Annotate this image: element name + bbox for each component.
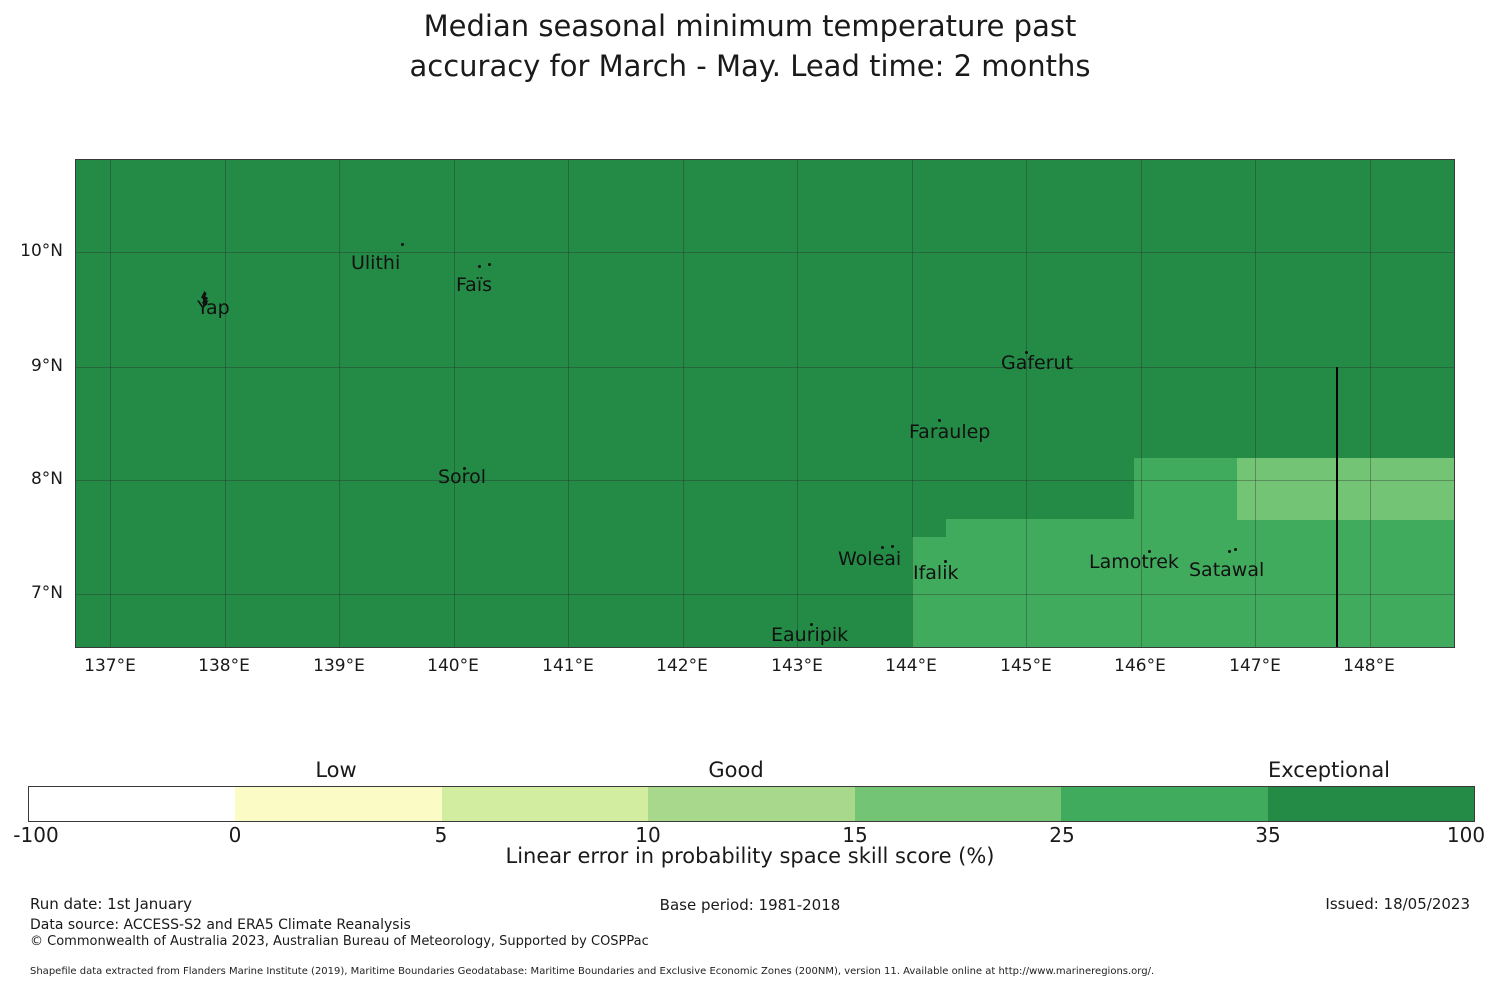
heatmap-cell-25-35-strip — [946, 519, 1455, 538]
colorbar-segment-25-35 — [1061, 787, 1267, 821]
gridline-longitude-148 — [1370, 160, 1371, 647]
gridline-longitude-137 — [110, 160, 111, 647]
gridline-longitude-146 — [1141, 160, 1142, 647]
colorbar-axis-label: Linear error in probability space skill … — [0, 844, 1500, 868]
x-axis-tick-139e: 139°E — [313, 656, 365, 676]
x-axis-tick-141e: 141°E — [542, 656, 594, 676]
place-label-yap: Yap — [197, 299, 230, 318]
gridline-latitude-7 — [76, 594, 1454, 595]
place-label-satawal: Satawal — [1189, 561, 1264, 580]
footer-issued-date: Issued: 18/05/2023 — [1325, 895, 1470, 913]
place-label-faraulep: Faraulep — [909, 423, 990, 442]
gridline-longitude-145 — [1026, 160, 1027, 647]
footer-copyright: © Commonwealth of Australia 2023, Austra… — [30, 934, 649, 949]
gridline-longitude-138 — [225, 160, 226, 647]
place-label-sorol: Sorol — [438, 468, 486, 487]
y-axis-tick-8n: 8°N — [31, 469, 63, 489]
island-marker-fais-2 — [488, 263, 491, 266]
place-label-eauripik: Eauripik — [771, 626, 848, 645]
y-axis-tick-7n: 7°N — [31, 583, 63, 603]
footer-base-period: Base period: 1981-2018 — [0, 896, 1500, 914]
x-axis-tick-142e: 142°E — [656, 656, 708, 676]
x-axis-tick-137e: 137°E — [84, 656, 136, 676]
x-axis-tick-138e: 138°E — [198, 656, 250, 676]
gridline-latitude-9 — [76, 367, 1454, 368]
colorbar-category-exceptional: Exceptional — [1268, 758, 1390, 782]
place-label-ifalik: Ifalik — [913, 564, 959, 583]
place-label-gaferut: Gaferut — [1001, 354, 1073, 373]
colorbar[interactable] — [28, 786, 1475, 822]
y-axis-tick-10n: 10°N — [20, 241, 63, 261]
colorbar-segment-35-100 — [1268, 787, 1474, 821]
colorbar-segment-neg100-0 — [29, 787, 235, 821]
colorbar-segment-10-15 — [648, 787, 854, 821]
y-axis-tick-9n: 9°N — [31, 356, 63, 376]
colorbar-category-good: Good — [708, 758, 763, 782]
x-axis-tick-140e: 140°E — [427, 656, 479, 676]
place-label-fais: Faïs — [456, 276, 492, 295]
map-plot-area[interactable]: Yap Ulithi Faïs Gaferut Faraulep Sorol W… — [75, 159, 1455, 648]
gridline-longitude-141 — [568, 160, 569, 647]
colorbar-category-low: Low — [315, 758, 356, 782]
colorbar-segment-0-5 — [235, 787, 441, 821]
footer-shapefile-attribution: Shapefile data extracted from Flanders M… — [30, 966, 1154, 977]
eez-boundary-line — [1336, 367, 1338, 648]
island-marker-satawal-2 — [1234, 548, 1237, 551]
place-label-woleai: Woleai — [838, 550, 901, 569]
page-title: Median seasonal minimum temperature past… — [0, 6, 1500, 86]
island-marker-ulithi — [401, 243, 404, 246]
gridline-longitude-139 — [339, 160, 340, 647]
colorbar-segment-5-10 — [442, 787, 648, 821]
colorbar-segment-15-25 — [855, 787, 1061, 821]
x-axis-tick-145e: 145°E — [1000, 656, 1052, 676]
place-label-ulithi: Ulithi — [351, 254, 400, 273]
x-axis-tick-147e: 147°E — [1229, 656, 1281, 676]
x-axis-tick-146e: 146°E — [1114, 656, 1166, 676]
gridline-longitude-140 — [454, 160, 455, 647]
heatmap-cell-15-25-block — [1237, 458, 1455, 520]
x-axis-tick-143e: 143°E — [771, 656, 823, 676]
gridline-longitude-143 — [797, 160, 798, 647]
island-marker-satawal — [1228, 550, 1231, 553]
place-label-lamotrek: Lamotrek — [1089, 553, 1179, 572]
footer-data-source: Data source: ACCESS-S2 and ERA5 Climate … — [30, 917, 411, 933]
x-axis-tick-148e: 148°E — [1343, 656, 1395, 676]
island-marker-fais — [478, 265, 481, 268]
gridline-longitude-142 — [683, 160, 684, 647]
gridline-latitude-10 — [76, 252, 1454, 253]
x-axis-tick-144e: 144°E — [885, 656, 937, 676]
heatmap-cell-25-35-bottom — [912, 537, 1455, 648]
gridline-latitude-8 — [76, 480, 1454, 481]
heatmap-cell-25-35-block — [1134, 458, 1237, 520]
